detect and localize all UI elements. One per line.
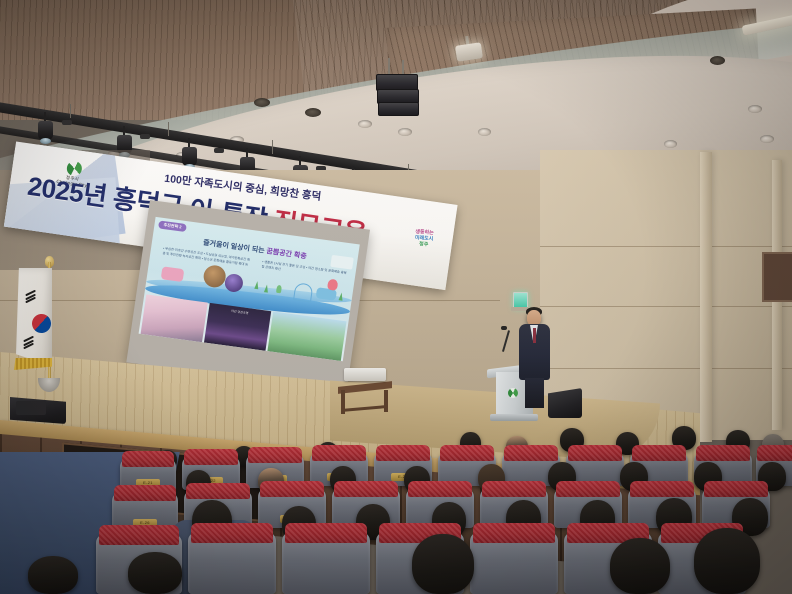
taeguk-symbol	[29, 311, 55, 337]
slide-icon-ferris-wheel	[293, 282, 313, 302]
presentation-slide: 추진전략 2 즐거움이 일상이 되는 꿈쁨공간 확충 • 무심천·미호강 수변공…	[139, 217, 360, 361]
slide-photo-spring	[141, 294, 208, 342]
slide-photo-park	[267, 312, 346, 361]
slide-icon-tram	[161, 266, 185, 282]
truss-lamp	[140, 134, 150, 139]
seat[interactable]	[470, 532, 558, 594]
auditorium-photo: 청주시 Cheongju City 100만 자족도시의 중심, 희망찬 흥덕 …	[0, 0, 792, 594]
slide-title-highlight: 꿈쁨공간 확충	[266, 248, 307, 260]
truss-hanger	[70, 104, 71, 118]
flag-stand	[38, 378, 60, 392]
audience-head	[412, 534, 474, 594]
banner-slogan: 생동하는 미래도시 청주	[401, 229, 447, 258]
downlight	[398, 128, 412, 136]
downlight	[358, 120, 372, 128]
downlight	[664, 140, 677, 148]
truss-hanger	[168, 122, 169, 136]
downlight	[305, 108, 321, 117]
audience-head	[128, 552, 182, 594]
truss-lamp	[214, 148, 224, 153]
audience-head	[694, 528, 760, 594]
flag-fringe	[14, 358, 52, 370]
seat[interactable]	[282, 532, 370, 594]
slide-icon-balloon	[327, 279, 338, 291]
downlight	[760, 135, 774, 143]
projector-table	[338, 378, 392, 414]
truss-lamp	[62, 120, 72, 125]
presenter	[518, 306, 552, 406]
slide-tag-badge: 추진전략 2	[158, 220, 187, 232]
wall-column	[700, 152, 712, 442]
audience-head	[610, 538, 670, 594]
microphone-icon	[501, 326, 507, 330]
line-array-speaker-left	[376, 58, 420, 124]
speaker-grille	[16, 401, 46, 415]
downlight	[478, 128, 491, 136]
downlight	[748, 105, 762, 113]
projection-screen: 추진전략 2 즐거움이 일상이 되는 꿈쁨공간 확충 • 무심천·미호강 수변공…	[126, 200, 370, 392]
wall-seam	[540, 246, 792, 247]
projector-device	[344, 368, 386, 381]
podium-emblem	[508, 388, 518, 398]
downlight	[254, 98, 270, 107]
slide-photo-night: 야간 경관조명	[204, 303, 271, 351]
flag-cloth	[16, 268, 52, 366]
wall-seam	[540, 306, 792, 307]
wall-seam	[540, 368, 792, 369]
korean-flag	[8, 258, 66, 394]
wall-picture-frame	[762, 252, 792, 302]
seat[interactable]	[188, 532, 276, 594]
truss-hanger	[272, 140, 273, 154]
downlight	[710, 56, 725, 65]
audience-head	[28, 556, 78, 594]
